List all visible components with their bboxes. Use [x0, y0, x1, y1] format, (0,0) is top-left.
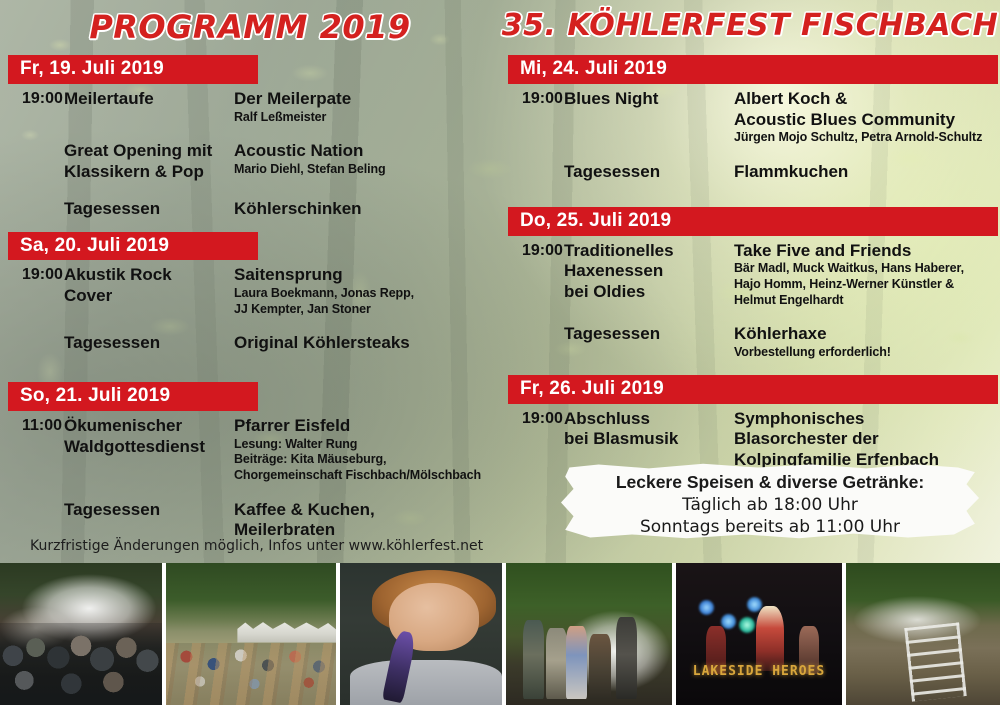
program-row-performer: Pfarrer EisfeldLesung: Walter RungBeiträ… — [234, 416, 498, 484]
day-rows: 19:00MeilertaufeDer MeilerpateRalf Leßme… — [8, 84, 498, 220]
program-row-time: 19:00 — [8, 89, 64, 109]
day-block: So, 21. Juli 201911:00ÖkumenischerWaldgo… — [8, 382, 498, 541]
program-row: TagesessenOriginal Köhlersteaks — [8, 333, 498, 354]
program-row: 11:00ÖkumenischerWaldgottesdienstPfarrer… — [8, 416, 498, 484]
day-date-bar: Do, 25. Juli 2019 — [508, 207, 998, 236]
photo-3-person-5 — [616, 617, 638, 699]
program-row-title: Meilertaufe — [64, 89, 234, 110]
day-block-gap — [508, 363, 998, 375]
day-date-bar: Fr, 19. Juli 2019 — [8, 55, 258, 84]
performer-name: Original Köhlersteaks — [234, 333, 498, 354]
row-spacer — [8, 484, 498, 500]
program-row: TagesessenKaffee & Kuchen,Meilerbraten — [8, 500, 498, 541]
photo-singer-with-microphone — [340, 563, 502, 705]
program-row-performer: Acoustic NationMario Diehl, Stefan Belin… — [234, 141, 498, 177]
ladder-icon — [904, 623, 966, 702]
program-row-title: Blues Night — [564, 89, 734, 110]
row-spacer — [508, 146, 998, 162]
program-row-performer: SaitensprungLaura Boekmann, Jonas Repp,J… — [234, 265, 498, 317]
program-row-performer: Original Köhlersteaks — [234, 333, 498, 354]
program-row-time: 19:00 — [508, 89, 564, 109]
performer-name: Pfarrer Eisfeld — [234, 416, 498, 437]
program-row: 19:00TraditionellesHaxenessenbei OldiesT… — [508, 241, 998, 309]
day-date-bar: Fr, 26. Juli 2019 — [508, 375, 998, 404]
program-row-performer: Köhlerschinken — [234, 199, 498, 220]
program-row: TagesessenKöhlerhaxeVorbestellung erford… — [508, 324, 998, 360]
program-row: 19:00Blues NightAlbert Koch &Acoustic Bl… — [508, 89, 998, 146]
program-row-time: 19:00 — [8, 265, 64, 285]
performer-details: Vorbestellung erforderlich! — [734, 345, 998, 361]
performer-name: Köhlerhaxe — [734, 324, 998, 345]
program-row-performer: Kaffee & Kuchen,Meilerbraten — [234, 500, 498, 541]
performer-name: SymphonischesBlasorchester derKolpingfam… — [734, 409, 998, 471]
day-block-gap — [8, 356, 498, 382]
info-box-line-1: Täglich ab 18:00 Uhr — [561, 494, 979, 516]
row-spacer — [8, 125, 498, 141]
photo-charcoal-kiln-smoke-crowd — [0, 563, 162, 705]
program-row: 19:00Abschlussbei BlasmusikSymphonisches… — [508, 409, 998, 471]
photo-2-shirt — [350, 660, 502, 705]
program-row-title: Abschlussbei Blasmusik — [564, 409, 734, 450]
stage-light-icon-2 — [721, 614, 736, 629]
program-row-time: 11:00 — [8, 416, 64, 436]
day-date-bar: So, 21. Juli 2019 — [8, 382, 258, 411]
program-row: Great Opening mitKlassikern & PopAcousti… — [8, 141, 498, 182]
day-block-gap — [508, 185, 998, 207]
row-spacer — [508, 308, 998, 324]
performer-name: Kaffee & Kuchen,Meilerbraten — [234, 500, 498, 541]
food-drinks-info-box: Leckere Speisen & diverse Getränke: Tägl… — [561, 463, 979, 539]
info-box-title: Leckere Speisen & diverse Getränke: — [561, 471, 979, 494]
program-column-right: Mi, 24. Juli 201919:00Blues NightAlbert … — [508, 55, 998, 485]
stage-light-icon-3 — [739, 617, 755, 633]
performer-name: Saitensprung — [234, 265, 498, 286]
performer-details: Laura Boekmann, Jonas Repp,JJ Kempter, J… — [234, 286, 498, 317]
day-block: Sa, 20. Juli 201919:00Akustik RockCoverS… — [8, 232, 498, 355]
performer-name: Acoustic Nation — [234, 141, 498, 162]
program-row-performer: SymphonischesBlasorchester derKolpingfam… — [734, 409, 998, 471]
day-rows: 11:00ÖkumenischerWaldgottesdienstPfarrer… — [8, 411, 498, 541]
program-row-title: Tagesessen — [564, 324, 734, 345]
program-row-performer: KöhlerhaxeVorbestellung erforderlich! — [734, 324, 998, 360]
photo-0-crowd — [0, 623, 162, 705]
day-block: Do, 25. Juli 201919:00TraditionellesHaxe… — [508, 207, 998, 361]
day-date-bar: Sa, 20. Juli 2019 — [8, 232, 258, 261]
photo-festival-tents-visitors — [166, 563, 336, 705]
program-row-title: Tagesessen — [64, 333, 234, 354]
program-row-title: Great Opening mitKlassikern & Pop — [64, 141, 234, 182]
program-row: 19:00Akustik RockCoverSaitensprungLaura … — [8, 265, 498, 317]
photo-3-person-2 — [546, 628, 568, 699]
program-row: TagesessenKöhlerschinken — [8, 199, 498, 220]
program-row-title: ÖkumenischerWaldgottesdienst — [64, 416, 234, 457]
photo-3-person-4 — [589, 634, 611, 699]
program-column-left: Fr, 19. Juli 201919:00MeilertaufeDer Mei… — [8, 55, 498, 555]
day-block: Fr, 19. Juli 201919:00MeilertaufeDer Mei… — [8, 55, 498, 220]
performer-name: Köhlerschinken — [234, 199, 498, 220]
day-rows: 19:00Akustik RockCoverSaitensprungLaura … — [8, 260, 498, 354]
program-row-time: 19:00 — [508, 241, 564, 261]
performer-details: Jürgen Mojo Schultz, Petra Arnold-Schult… — [734, 130, 998, 146]
day-block: Mi, 24. Juli 201919:00Blues NightAlbert … — [508, 55, 998, 183]
performer-details: Lesung: Walter RungBeiträge: Kita Mäuseb… — [234, 437, 498, 484]
program-row-title: TraditionellesHaxenessenbei Oldies — [564, 241, 734, 303]
performer-details: Bär Madl, Muck Waitkus, Hans Haberer,Haj… — [734, 261, 998, 308]
day-block: Fr, 26. Juli 201919:00Abschlussbei Blasm… — [508, 375, 998, 471]
program-row-performer: Flammkuchen — [734, 162, 998, 183]
row-spacer — [8, 183, 498, 199]
photo-4-singer — [756, 606, 784, 671]
band-banner-text: LAKESIDE HEROES — [684, 664, 833, 679]
photo-3-person-1 — [523, 620, 545, 700]
photo-strip: LAKESIDE HEROES — [0, 563, 1000, 705]
performer-name: Albert Koch &Acoustic Blues Community — [734, 89, 998, 130]
day-date-bar: Mi, 24. Juli 2019 — [508, 55, 998, 84]
program-row-performer: Take Five and FriendsBär Madl, Muck Wait… — [734, 241, 998, 309]
performer-name: Der Meilerpate — [234, 89, 498, 110]
footer-note: Kurzfristige Änderungen möglich, Infos u… — [30, 538, 483, 554]
photo-3-person-3 — [566, 626, 588, 700]
photo-stage-band-lakeside-heroes: LAKESIDE HEROES — [676, 563, 842, 705]
poster-root: PROGRAMM 2019 35. KÖHLERFEST FISCHBACH F… — [0, 0, 1000, 705]
performer-details: Mario Diehl, Stefan Beling — [234, 162, 498, 178]
day-rows: 19:00Blues NightAlbert Koch &Acoustic Bl… — [508, 84, 998, 183]
program-row-title: Tagesessen — [64, 500, 234, 521]
program-row: TagesessenFlammkuchen — [508, 162, 998, 183]
photo-charcoal-kiln-with-ladder — [846, 563, 1000, 705]
program-row-title: Tagesessen — [64, 199, 234, 220]
program-row-performer: Albert Koch &Acoustic Blues CommunityJür… — [734, 89, 998, 146]
program-row-performer: Der MeilerpateRalf Leßmeister — [234, 89, 498, 125]
program-row: 19:00MeilertaufeDer MeilerpateRalf Leßme… — [8, 89, 498, 125]
day-block-gap — [8, 222, 498, 232]
day-rows: 19:00TraditionellesHaxenessenbei OldiesT… — [508, 236, 998, 361]
day-rows: 19:00Abschlussbei BlasmusikSymphonisches… — [508, 404, 998, 471]
row-spacer — [8, 317, 498, 333]
program-row-time: 19:00 — [508, 409, 564, 429]
photo-1-benches — [166, 643, 336, 705]
page-title-left: PROGRAMM 2019 — [0, 8, 500, 46]
performer-details: Ralf Leßmeister — [234, 110, 498, 126]
program-row-title: Tagesessen — [564, 162, 734, 183]
photo-people-at-smoking-kiln — [506, 563, 672, 705]
performer-name: Take Five and Friends — [734, 241, 998, 262]
performer-name: Flammkuchen — [734, 162, 998, 183]
page-title-right: 35. KÖHLERFEST FISCHBACH — [500, 8, 1000, 43]
program-row-title: Akustik RockCover — [64, 265, 234, 306]
